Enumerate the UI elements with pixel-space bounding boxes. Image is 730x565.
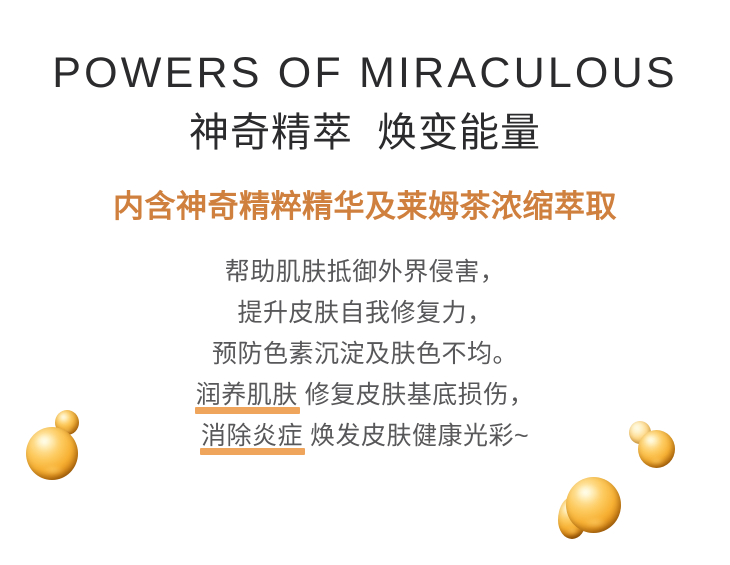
droplet-right-large-icon (566, 477, 621, 533)
headline-chinese-left: 神奇精萃 (189, 111, 353, 155)
benefit-text-lines: 帮助肌肤抵御外界侵害， 提升皮肤自我修复力， 预防色素沉淀及肤色不均。 润养肌肤… (0, 252, 730, 457)
benefit-line-3: 预防色素沉淀及肤色不均。 (0, 334, 730, 375)
highlight-term-2: 消除炎症 (201, 416, 304, 457)
subheadline-ingredients: 内含神奇精粹精华及莱姆茶浓缩萃取 (0, 187, 730, 227)
headline-chinese-right: 焕变能量 (377, 111, 541, 155)
text-content-block: POWERS OF MIRACULOUS 神奇精萃焕变能量 内含神奇精粹精华及莱… (0, 0, 730, 457)
benefit-line-2: 提升皮肤自我修复力， (0, 293, 730, 334)
benefit-line-5-rest: 焕发皮肤健康光彩~ (310, 422, 529, 450)
benefit-line-5: 消除炎症焕发皮肤健康光彩~ (0, 416, 730, 457)
headline-chinese: 神奇精萃焕变能量 (0, 109, 730, 157)
benefit-line-4-rest: 修复皮肤基底损伤， (305, 381, 535, 409)
headline-english: POWERS OF MIRACULOUS (0, 47, 730, 99)
benefit-line-1: 帮助肌肤抵御外界侵害， (0, 252, 730, 293)
highlight-term-1: 润养肌肤 (196, 375, 299, 416)
benefit-line-4: 润养肌肤修复皮肤基底损伤， (0, 375, 730, 416)
product-description-banner: POWERS OF MIRACULOUS 神奇精萃焕变能量 内含神奇精粹精华及莱… (0, 0, 730, 565)
